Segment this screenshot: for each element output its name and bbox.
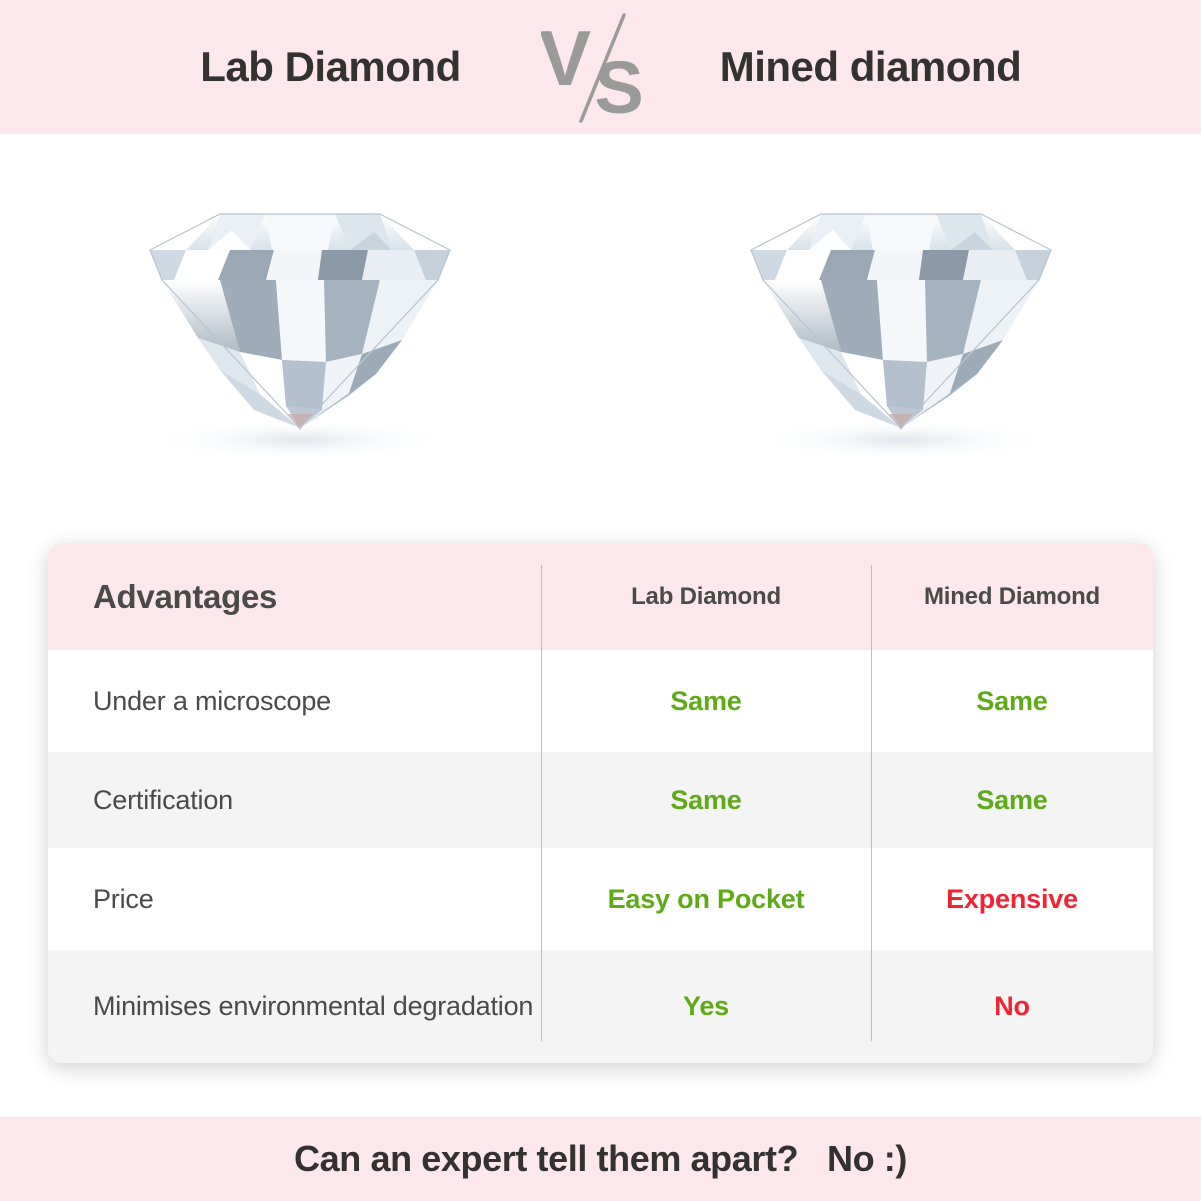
lab-diamond-photo <box>90 162 510 492</box>
row-label: Under a microscope <box>93 686 331 716</box>
top-banner: Lab Diamond V S Mined diamond <box>0 0 1201 134</box>
svg-text:S: S <box>594 46 643 127</box>
svg-text:V: V <box>541 14 591 102</box>
table-header-row: Advantages Lab Diamond Mined Diamond <box>48 543 1153 650</box>
row-value-mined: No <box>994 991 1030 1021</box>
row-label: Minimises environmental degradation <box>93 991 533 1021</box>
footer-question: Can an expert tell them apart? No :) <box>294 1138 907 1180</box>
column-header-advantages: Advantages <box>93 578 277 615</box>
right-title: Mined diamond <box>661 43 1081 91</box>
column-header-mined-diamond: Mined Diamond <box>924 583 1100 610</box>
row-value-lab: Yes <box>683 991 729 1021</box>
table-row: Certification Same Same <box>48 752 1153 848</box>
column-divider-1 <box>541 565 542 1041</box>
footer-banner: Can an expert tell them apart? No :) <box>0 1117 1201 1201</box>
row-label: Price <box>93 884 154 914</box>
table-row: Price Easy on Pocket Expensive <box>48 848 1153 950</box>
row-value-lab: Same <box>670 686 741 716</box>
diamond-image-row <box>0 134 1201 543</box>
column-divider-2 <box>871 565 872 1041</box>
row-value-lab: Easy on Pocket <box>608 884 805 914</box>
row-value-mined: Expensive <box>946 884 1078 914</box>
row-value-lab: Same <box>670 785 741 815</box>
mined-diamond-photo <box>691 162 1111 492</box>
comparison-table: Advantages Lab Diamond Mined Diamond Und… <box>48 543 1153 1063</box>
row-value-mined: Same <box>976 686 1047 716</box>
column-header-lab-diamond: Lab Diamond <box>631 583 781 610</box>
vs-icon: V S <box>541 7 661 127</box>
table-row: Under a microscope Same Same <box>48 650 1153 752</box>
table-row: Minimises environmental degradation Yes … <box>48 950 1153 1063</box>
left-title: Lab Diamond <box>121 43 541 91</box>
row-label: Certification <box>93 785 233 815</box>
row-value-mined: Same <box>976 785 1047 815</box>
